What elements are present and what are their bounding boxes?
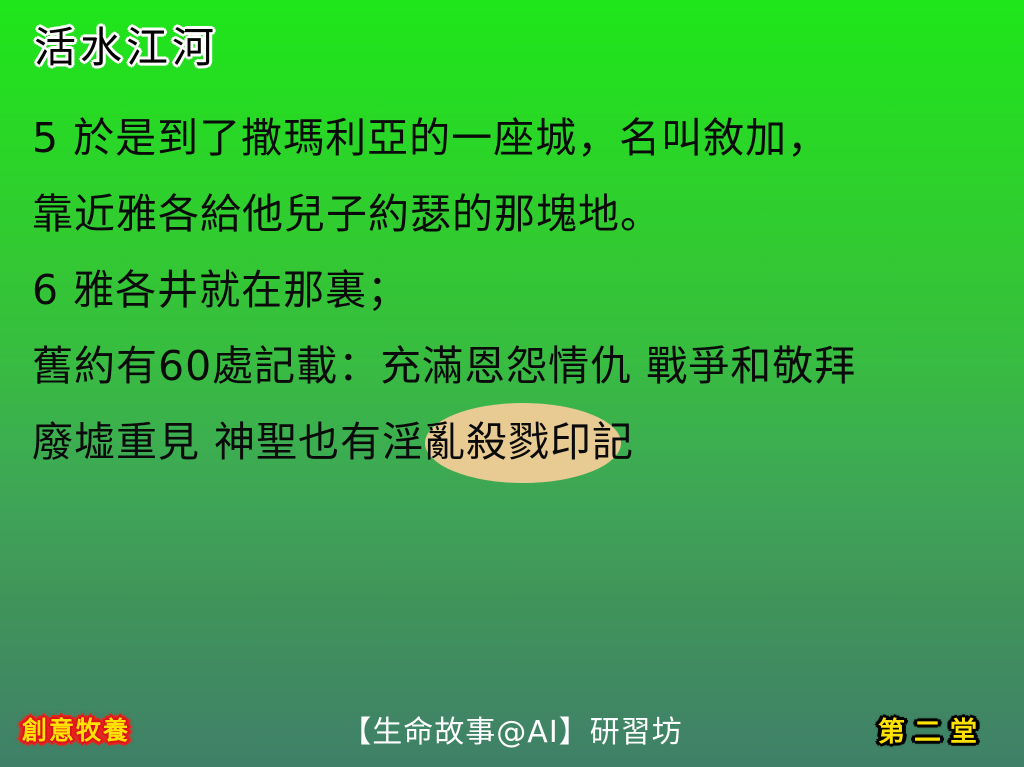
body-line-4: 舊約有60處記載：充滿恩怨情仇 戰爭和敬拜: [32, 328, 992, 404]
body-line-1: 5 於是到了撒瑪利亞的一座城，名叫敘加，: [32, 100, 992, 176]
slide-footer: 創意牧養 【生命故事@AI】研習坊 第二堂: [0, 705, 1024, 767]
session-badge: 第二堂: [878, 713, 986, 753]
presentation-slide: 活水江河 5 於是到了撒瑪利亞的一座城，名叫敘加， 靠近雅各給他兒子約瑟的那塊地…: [0, 0, 1024, 767]
body-line-3: 6 雅各井就在那裏；: [32, 252, 992, 328]
footer-center-text: 【生命故事@AI】研習坊: [0, 713, 1024, 753]
slide-body: 5 於是到了撒瑪利亞的一座城，名叫敘加， 靠近雅各給他兒子約瑟的那塊地。 6 雅…: [32, 100, 992, 480]
body-line-5: 廢墟重見 神聖也有淫亂殺戮印記: [32, 404, 992, 480]
page-title: 活水江河: [34, 26, 218, 70]
body-line-2: 靠近雅各給他兒子約瑟的那塊地。: [32, 176, 992, 252]
